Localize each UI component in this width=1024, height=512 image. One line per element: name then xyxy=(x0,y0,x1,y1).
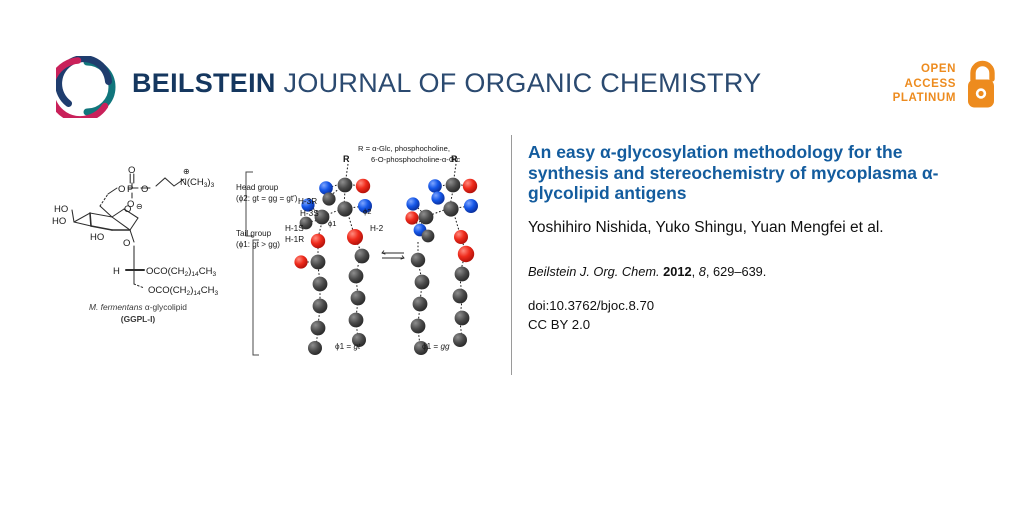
atom-carbon xyxy=(351,291,366,306)
tail-group-line1: Tail group xyxy=(236,229,271,238)
atom-carbon xyxy=(453,333,467,347)
tail-group-label: Tail group (ϕ1: gt > gg) xyxy=(236,228,280,250)
label-phi-1: ϕ1 xyxy=(328,219,336,228)
article-license[interactable]: CC BY 2.0 xyxy=(528,315,980,334)
label-glycerol-h: H xyxy=(113,266,120,277)
journal-title-rest: JOURNAL OF ORGANIC CHEMISTRY xyxy=(276,68,762,98)
atom-carbon xyxy=(419,210,434,225)
label-ester-2: OCO(CH2)14CH3 xyxy=(148,285,218,297)
label-phosphate-o-left: O xyxy=(118,184,125,195)
conformational-equilibrium-scheme: R R xyxy=(232,140,508,365)
open-access-line3: PLATINUM xyxy=(893,91,956,106)
atom-carbon xyxy=(337,201,352,216)
article-doi[interactable]: doi:10.3762/bjoc.8.70 xyxy=(528,296,980,315)
journal-title: BEILSTEIN JOURNAL OF ORGANIC CHEMISTRY xyxy=(132,68,761,99)
atom-carbon xyxy=(311,321,326,336)
atom-oxygen xyxy=(294,255,307,268)
beilstein-logo xyxy=(56,56,118,118)
atom-carbon xyxy=(455,267,470,282)
label-h-3r: H-3R xyxy=(298,197,317,206)
atom-carbon xyxy=(443,201,458,216)
label-h-2: H-2 xyxy=(370,224,383,233)
open-access-line1: OPEN xyxy=(893,62,956,77)
atom-carbon xyxy=(322,192,335,205)
r-group-definition: R = α-Glc, phosphocholine, 6-O-phosphoch… xyxy=(358,144,508,165)
atom-carbon xyxy=(415,275,430,290)
atom-carbon xyxy=(349,313,364,328)
label-plus-charge: ⊕ xyxy=(183,167,190,176)
atom-carbon xyxy=(313,277,328,292)
label-minus-charge: ⊖ xyxy=(136,202,143,211)
atom-carbon xyxy=(453,289,468,304)
atom-carbon xyxy=(411,319,426,334)
open-access-badge: OPEN ACCESS PLATINUM xyxy=(890,58,1000,120)
atom-carbon xyxy=(338,178,353,193)
atom-hydrogen xyxy=(428,179,442,193)
atom-oxygen xyxy=(405,211,418,224)
head-group-line1: Head group xyxy=(236,183,278,192)
atom-oxygen xyxy=(311,234,325,248)
article-authors: Yoshihiro Nishida, Yuko Shingu, Yuan Men… xyxy=(528,218,980,237)
label-ho-1: HO xyxy=(54,204,68,215)
r-definition-line2: 6-O-phosphocholine-α-Glc xyxy=(358,155,508,166)
atom-hydrogen xyxy=(464,199,478,213)
atom-hydrogen xyxy=(406,197,419,210)
atom-carbon xyxy=(313,299,328,314)
open-lock-icon xyxy=(962,60,1000,112)
label-ester-1: OCO(CH2)14CH3 xyxy=(146,266,216,278)
citation-pages: 629–639. xyxy=(713,264,766,279)
column-divider xyxy=(511,135,512,375)
structure-caption: M. fermentans α-glycolipid (GGPL-I) xyxy=(38,302,238,325)
head-group-line2: (ϕ2: gt = gg = gt′) xyxy=(236,194,297,203)
label-phosphate-p: P xyxy=(127,184,133,195)
label-h-1s: H-1S xyxy=(285,224,304,233)
citation-year: 2012 xyxy=(663,264,691,279)
journal-title-bold: BEILSTEIN xyxy=(132,68,276,98)
atom-oxygen xyxy=(347,229,363,245)
article-info: An easy α-glycosylation methodology for … xyxy=(528,142,980,334)
citation-volume: 8 xyxy=(699,264,706,279)
caption-code: (GGPL-I) xyxy=(121,314,155,324)
atom-carbon xyxy=(413,297,428,312)
citation-journal: Beilstein J. Org. Chem. xyxy=(528,264,660,279)
label-phosphate-o-double: O xyxy=(128,165,135,176)
atom-carbon xyxy=(349,269,364,284)
atom-hydrogen xyxy=(431,191,444,204)
page-header: BEILSTEIN JOURNAL OF ORGANIC CHEMISTRY O… xyxy=(0,0,1024,140)
article-citation: Beilstein J. Org. Chem. 2012, 8, 629–639… xyxy=(528,263,980,280)
label-phosphate-o-right: O xyxy=(141,184,148,195)
atom-oxygen xyxy=(463,179,477,193)
atom-carbon xyxy=(422,230,435,243)
cover-page: BEILSTEIN JOURNAL OF ORGANIC CHEMISTRY O… xyxy=(0,0,1024,512)
atom-carbon xyxy=(411,253,425,267)
label-ho-3: HO xyxy=(90,232,104,243)
label-h-1r: H-1R xyxy=(285,235,304,244)
atom-carbon xyxy=(446,178,461,193)
label-h-3s: H-3S xyxy=(300,209,319,218)
atom-oxygen xyxy=(458,246,474,262)
caption-species: M. fermentans xyxy=(89,302,143,312)
label-glycosidic-o: O xyxy=(123,238,130,249)
open-access-text: OPEN ACCESS PLATINUM xyxy=(893,62,956,106)
atom-oxygen xyxy=(356,179,370,193)
atom-carbon xyxy=(455,311,470,326)
atom-carbon xyxy=(308,341,322,355)
tail-group-line2: (ϕ1: gt > gg) xyxy=(236,240,280,249)
open-access-line2: ACCESS xyxy=(893,77,956,92)
atom-carbon xyxy=(355,249,370,264)
label-phi-2: ϕ2 xyxy=(363,207,371,216)
r-definition-line1: R = α-Glc, phosphocholine, xyxy=(358,144,450,153)
label-phosphate-o-anion: O xyxy=(127,199,134,210)
conformer-label-left: ϕ1 = gt xyxy=(335,342,360,351)
caption-text: α-glycolipid xyxy=(143,302,187,312)
atom-carbon xyxy=(311,255,326,270)
atom-oxygen xyxy=(454,230,468,244)
label-ho-2: HO xyxy=(52,216,66,227)
label-ammonium: N(CH3)3 xyxy=(180,177,215,189)
label-r-group-left: R xyxy=(343,154,350,164)
equilibrium-arrow-icon xyxy=(382,251,404,260)
conformer-label-right: ϕ1 = gg xyxy=(422,342,450,351)
head-group-label: Head group (ϕ2: gt = gg = gt′) xyxy=(236,182,297,204)
article-title: An easy α-glycosylation methodology for … xyxy=(528,142,980,204)
